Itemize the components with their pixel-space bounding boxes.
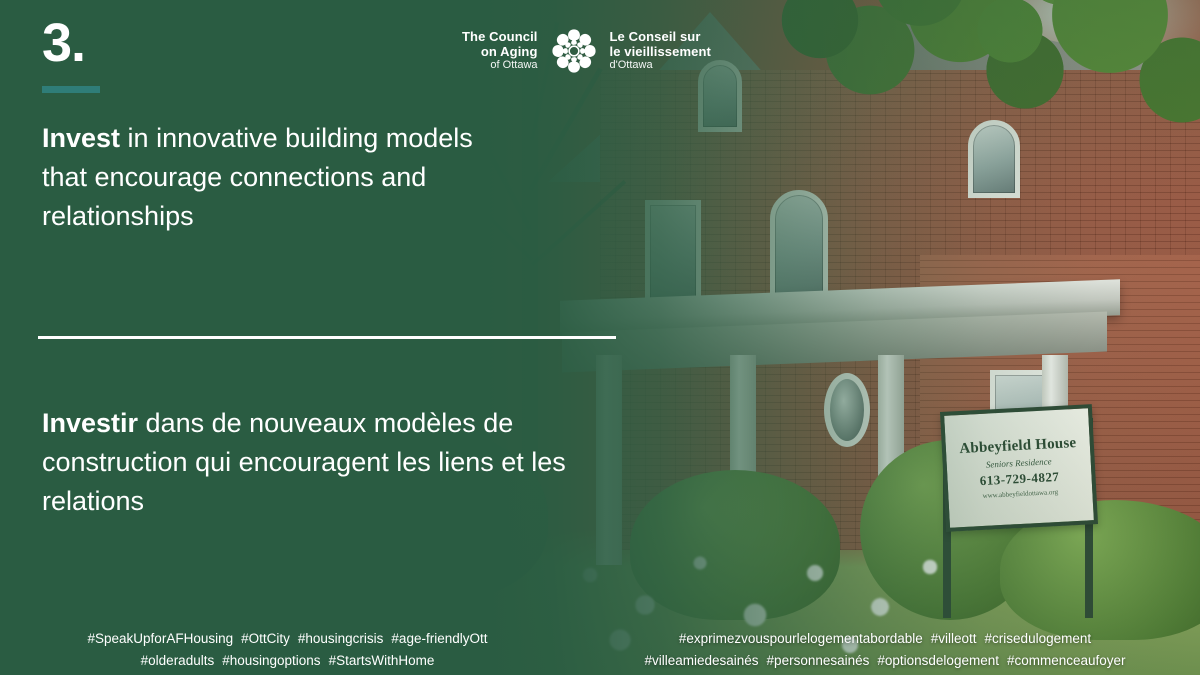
headline-french: Investir dans de nouveaux modèles de con… <box>42 404 572 521</box>
hashtag: #housingoptions <box>222 653 320 668</box>
hashtag: #StartsWithHome <box>329 653 435 668</box>
slide-number: 3. <box>42 16 85 70</box>
headline-english-lead: Invest <box>42 123 120 153</box>
logo-en-line1: The Council <box>462 30 538 45</box>
logo-en-line3: of Ottawa <box>462 59 538 71</box>
logo-fr-line3: d'Ottawa <box>610 59 711 71</box>
hashtag: #personnesainés <box>767 653 870 668</box>
headline-english: Invest in innovative building models tha… <box>42 119 512 236</box>
hashtag: #olderadults <box>141 653 215 668</box>
hashtag: #SpeakUpforAFHousing <box>88 631 234 646</box>
hashtags-french: #exprimezvouspourlelogementabordable#vil… <box>570 628 1200 672</box>
hashtag-line-en-1: #SpeakUpforAFHousing#OttCity#housingcris… <box>4 628 571 650</box>
section-divider <box>38 336 616 339</box>
logo-text-french: Le Conseil sur le vieillissement d'Ottaw… <box>610 30 711 71</box>
hashtag: #exprimezvouspourlelogementabordable <box>679 631 923 646</box>
logo-fr-line2: le vieillissement <box>610 45 711 60</box>
hashtag: #optionsdelogement <box>877 653 999 668</box>
hashtag-line-fr-1: #exprimezvouspourlelogementabordable#vil… <box>574 628 1196 650</box>
headline-french-lead: Investir <box>42 408 138 438</box>
hashtag: #villeamiedesainés <box>644 653 758 668</box>
logo-text-english: The Council on Aging of Ottawa <box>462 30 538 71</box>
hashtag: #age-friendlyOtt <box>391 631 487 646</box>
logo-fr-line1: Le Conseil sur <box>610 30 711 45</box>
hashtag-line-fr-2: #villeamiedesainés#personnesainés#option… <box>574 650 1196 672</box>
hashtag: #crisedulogement <box>985 631 1092 646</box>
flower-emblem-icon <box>547 24 601 78</box>
hashtag: #OttCity <box>241 631 290 646</box>
hashtag-line-en-2: #olderadults#housingoptions#StartsWithHo… <box>4 650 571 672</box>
hashtag: #villeott <box>931 631 977 646</box>
content-layer: 3. Invest in innovative building models … <box>0 0 1200 675</box>
hashtags-english: #SpeakUpforAFHousing#OttCity#housingcris… <box>0 628 575 672</box>
logo-en-line2: on Aging <box>462 45 538 60</box>
slide-number-underline <box>42 86 100 93</box>
hashtag: #commenceaufoyer <box>1007 653 1126 668</box>
organization-logo: The Council on Aging of Ottawa <box>462 24 711 78</box>
slide-root: 425 Abbeyfield House Senior <box>0 0 1200 675</box>
hashtag: #housingcrisis <box>298 631 384 646</box>
